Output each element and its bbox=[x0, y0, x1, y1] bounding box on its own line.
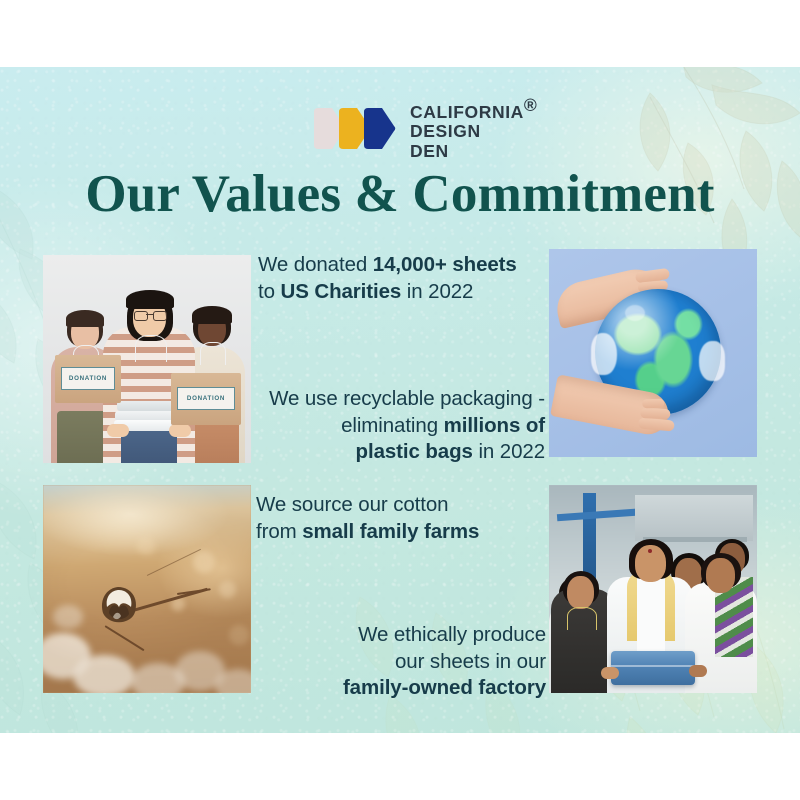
brand-line-california: CALIFORNIA® bbox=[410, 97, 537, 121]
chevron-navy-icon bbox=[363, 105, 397, 152]
logo-chevron-group bbox=[313, 105, 397, 152]
statement-packaging-text: We use recyclable packaging -eliminating… bbox=[269, 387, 545, 463]
donation-box-label: DONATION bbox=[61, 367, 115, 390]
donation-box-left: DONATION bbox=[55, 355, 121, 403]
brand-line-den: DEN bbox=[410, 143, 537, 161]
brand-logo: CALIFORNIA® DESIGN DEN bbox=[313, 97, 537, 160]
poster-canvas: CALIFORNIA® DESIGN DEN Our Values & Comm… bbox=[0, 0, 800, 800]
folded-blue-sheets bbox=[611, 651, 695, 685]
registered-trademark-icon: ® bbox=[524, 95, 538, 115]
page-title: Our Values & Commitment bbox=[0, 164, 800, 224]
brand-line-design: DESIGN bbox=[410, 123, 537, 141]
brand-wordmark: CALIFORNIA® DESIGN DEN bbox=[410, 97, 537, 160]
statement-charities-text: We donated 14,000+ sheetsto US Charities… bbox=[258, 253, 517, 303]
statement-charities: We donated 14,000+ sheetsto US Charities… bbox=[258, 252, 538, 305]
photo-donation-volunteers: DONATION DONATION bbox=[43, 255, 251, 463]
photo-plastic-bag-globe bbox=[549, 249, 757, 457]
statement-cotton: We source our cottonfrom small family fa… bbox=[256, 492, 506, 545]
statement-packaging: We use recyclable packaging -eliminating… bbox=[258, 386, 545, 466]
photo-cotton-field bbox=[43, 485, 251, 693]
statement-factory: We ethically produceour sheets in ourfam… bbox=[318, 622, 546, 702]
donation-box-right: DONATION bbox=[171, 373, 241, 425]
statement-factory-text: We ethically produceour sheets in ourfam… bbox=[343, 623, 546, 699]
statement-cotton-text: We source our cottonfrom small family fa… bbox=[256, 493, 479, 543]
donation-box-label: DONATION bbox=[177, 387, 235, 410]
photo-factory-workers bbox=[549, 485, 757, 693]
